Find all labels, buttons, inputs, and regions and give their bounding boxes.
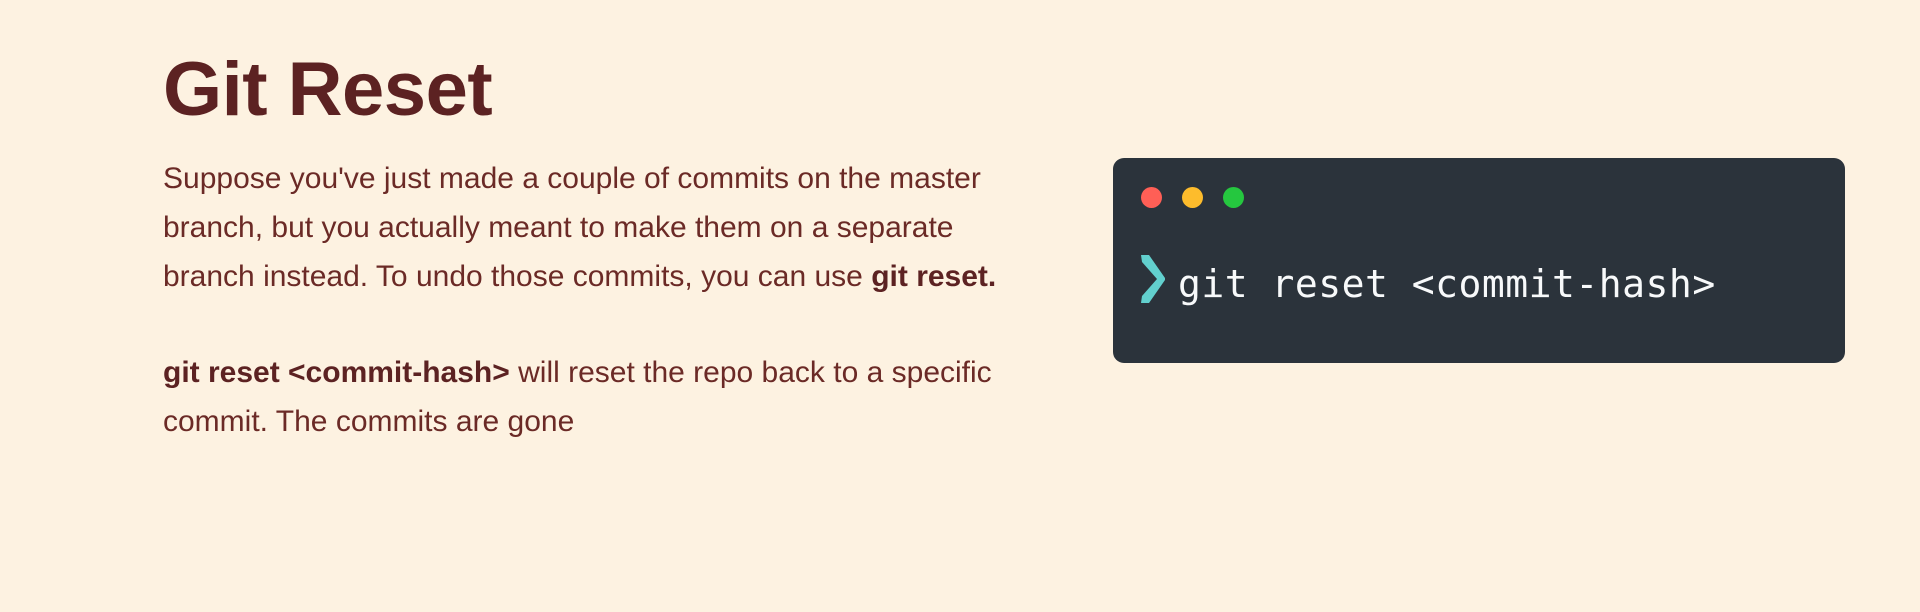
paragraph-two: git reset <commit-hash> will reset the r… bbox=[163, 348, 1043, 446]
paragraph-one: Suppose you've just made a couple of com… bbox=[163, 154, 1043, 301]
paragraph-one-text: Suppose you've just made a couple of com… bbox=[163, 162, 981, 293]
slide-canvas: Git Reset Suppose you've just made a cou… bbox=[0, 0, 1920, 612]
paragraph-two-emphasis: git reset <commit-hash> bbox=[163, 356, 510, 389]
paragraph-one-emphasis: git reset. bbox=[871, 260, 996, 293]
page-title: Git Reset bbox=[163, 52, 1053, 128]
prompt-chevron-icon bbox=[1140, 253, 1166, 305]
window-minimize-button[interactable] bbox=[1182, 187, 1203, 208]
terminal-titlebar bbox=[1141, 187, 1244, 208]
window-close-button[interactable] bbox=[1141, 187, 1162, 208]
window-zoom-button[interactable] bbox=[1223, 187, 1244, 208]
terminal-window: git reset <commit-hash> bbox=[1113, 158, 1845, 363]
terminal-command-text: git reset <commit-hash> bbox=[1178, 262, 1716, 306]
text-column: Git Reset Suppose you've just made a cou… bbox=[163, 52, 1053, 446]
terminal-body[interactable]: git reset <commit-hash> bbox=[1140, 245, 1825, 306]
